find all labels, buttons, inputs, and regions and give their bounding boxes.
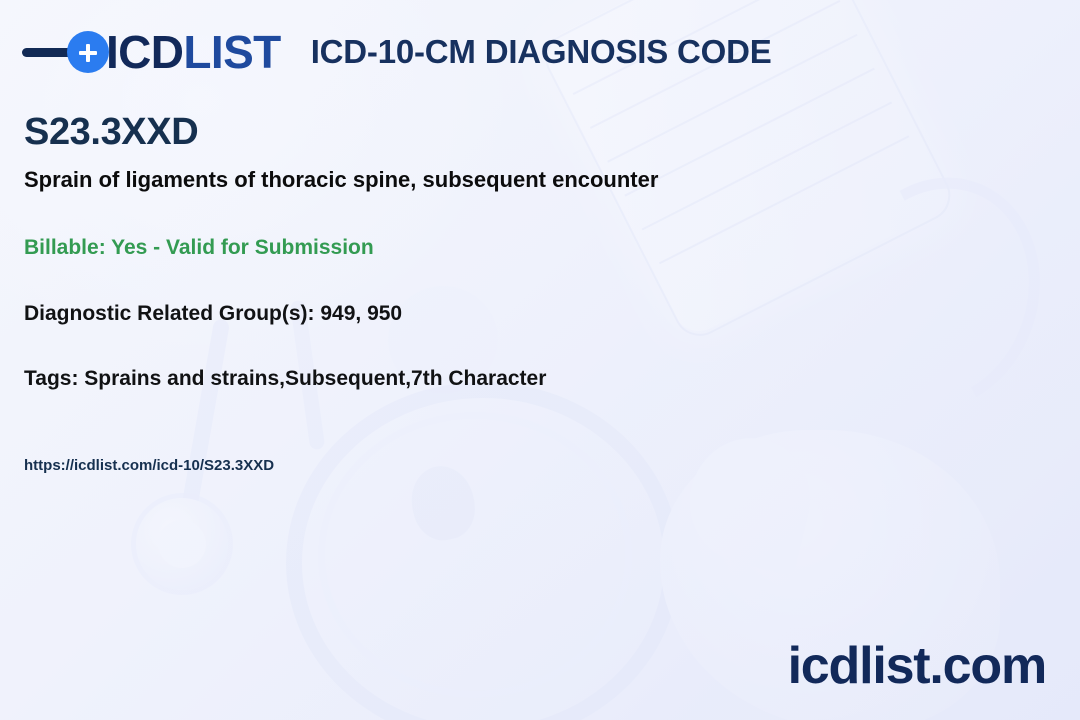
stethoscope-bell-inner — [158, 520, 206, 568]
code-tags: Tags: Sprains and strains,Subsequent,7th… — [24, 366, 864, 391]
icdlist-logo[interactable]: ICDLIST — [22, 29, 281, 75]
plus-circle-icon — [67, 31, 109, 73]
footer-brand: icdlist.com — [788, 640, 1046, 692]
stethoscope-bell-graphic — [136, 498, 228, 590]
code-details: S23.3XXD Sprain of ligaments of thoracic… — [24, 112, 864, 475]
page-title: ICD-10-CM DIAGNOSIS CODE — [311, 33, 772, 71]
diagnosis-code: S23.3XXD — [24, 112, 864, 153]
diagnostic-related-groups: Diagnostic Related Group(s): 949, 950 — [24, 301, 864, 326]
icd-code-card: ICDLIST ICD-10-CM DIAGNOSIS CODE S23.3XX… — [0, 0, 1080, 720]
logo-word-icd: ICD — [106, 26, 183, 78]
logo-word-list: LIST — [183, 26, 280, 78]
source-url[interactable]: https://icdlist.com/icd-10/S23.3XXD — [24, 457, 864, 475]
page-header: ICDLIST ICD-10-CM DIAGNOSIS CODE — [0, 0, 1080, 104]
diagnosis-description: Sprain of ligaments of thoracic spine, s… — [24, 167, 864, 193]
logo-wordmark: ICDLIST — [106, 29, 281, 75]
billable-status: Billable: Yes - Valid for Submission — [24, 235, 864, 260]
